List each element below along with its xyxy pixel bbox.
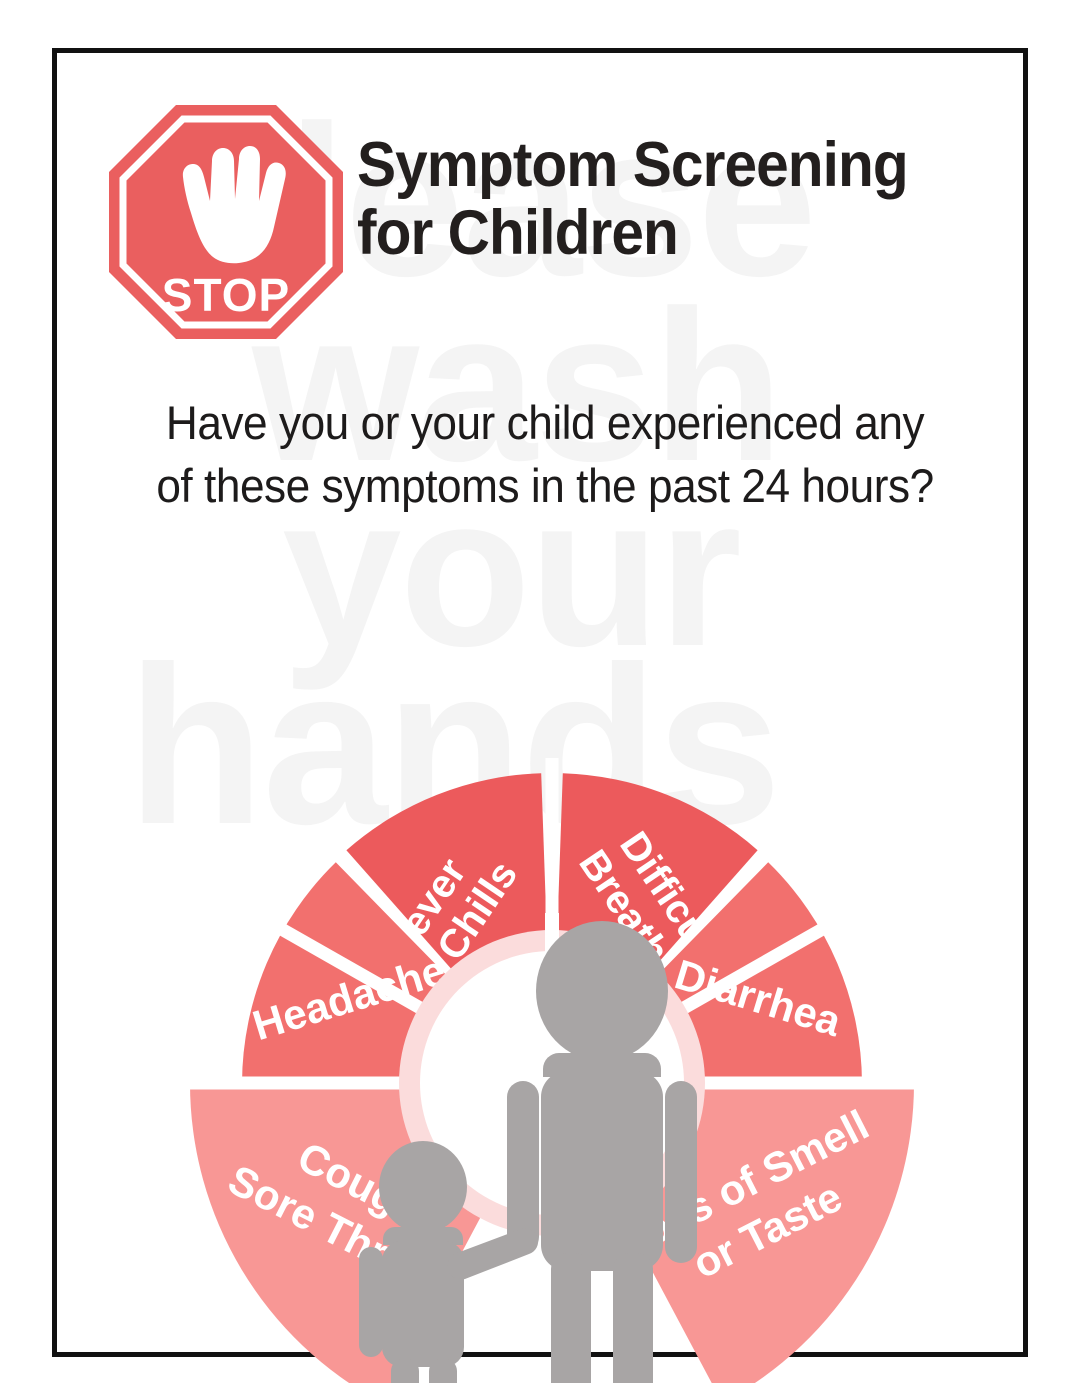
adult-right-leg [613, 1253, 653, 1383]
poster-frame: lease wash your hands STOP Symptom Scree… [52, 48, 1028, 1357]
adult-left-leg [551, 1253, 591, 1383]
screening-question: Have you or your child experienced any o… [109, 391, 981, 518]
page-title-line-2: for Children [357, 199, 971, 267]
stop-label: STOP [162, 269, 290, 321]
child-right-leg [429, 1359, 457, 1383]
stop-sign-icon: STOP [105, 101, 347, 343]
symptom-wheel: Fever or Chills Difficulty Breathing [57, 553, 1033, 1363]
adult-torso [541, 1071, 663, 1271]
adult-right-arm [665, 1081, 697, 1263]
screening-question-line-2: of these symptoms in the past 24 hours? [109, 454, 981, 517]
screening-question-line-1: Have you or your child experienced any [109, 391, 981, 454]
adult-left-arm [507, 1081, 539, 1253]
child-left-arm [359, 1247, 383, 1357]
adult-head [536, 921, 668, 1061]
child-head [379, 1141, 467, 1233]
page-title: Symptom Screening for Children [357, 131, 971, 267]
child-left-leg [391, 1359, 419, 1383]
symptom-screening-poster: lease wash your hands STOP Symptom Scree… [0, 0, 1080, 1398]
poster-header: STOP Symptom Screening for Children [57, 53, 1033, 353]
symptom-wheel-graphic: Fever or Chills Difficulty Breathing [57, 553, 1033, 1383]
page-title-line-1: Symptom Screening [357, 131, 971, 199]
